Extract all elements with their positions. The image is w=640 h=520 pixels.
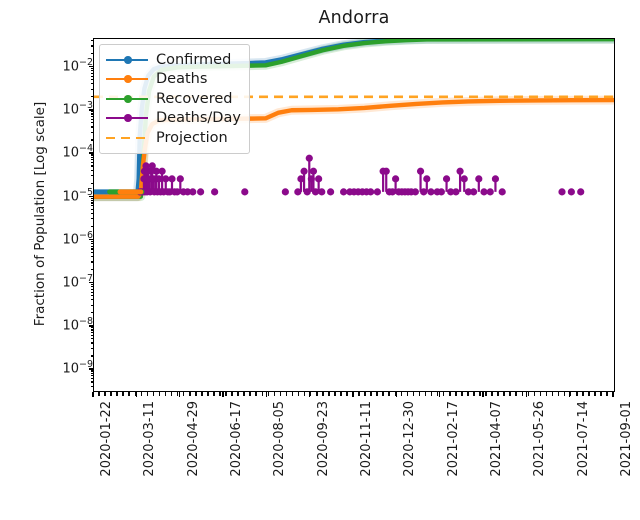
x-minor-tick	[522, 392, 524, 396]
x-tick-label: 2020-08-05	[272, 401, 287, 477]
x-minor-tick	[122, 392, 124, 396]
x-tick-mark	[482, 392, 483, 397]
x-minor-tick	[401, 392, 403, 396]
scatter-point	[197, 188, 204, 195]
x-minor-tick	[600, 392, 602, 396]
x-minor-tick	[286, 392, 288, 396]
legend-swatch-icon	[106, 53, 148, 67]
x-tick-label: 2020-04-29	[186, 401, 201, 477]
x-minor-tick	[225, 392, 227, 396]
x-tick-label: 2021-05-26	[532, 401, 547, 477]
y-tick-label: 10−9	[45, 360, 93, 375]
scatter-point	[241, 188, 248, 195]
x-minor-tick	[473, 392, 475, 396]
scatter-point	[383, 168, 390, 175]
scatter-point	[159, 168, 166, 175]
scatter-point	[177, 175, 184, 182]
x-tick-label: 2021-09-01	[619, 401, 634, 477]
x-minor-tick	[322, 392, 324, 396]
scatter-point	[306, 155, 313, 162]
x-tick-label: 2021-04-07	[489, 401, 504, 477]
x-tick-mark	[309, 392, 310, 397]
x-minor-tick	[558, 392, 560, 396]
x-minor-tick	[503, 392, 505, 396]
x-minor-tick	[534, 392, 536, 396]
y-tick-label: 10−6	[45, 231, 93, 246]
chart-title: Andorra	[93, 8, 615, 28]
legend-swatch-icon	[106, 111, 148, 125]
scatter-point	[487, 188, 494, 195]
x-minor-tick	[449, 392, 451, 396]
x-tick-mark	[439, 392, 440, 397]
scatter-point	[315, 175, 322, 182]
x-minor-tick	[298, 392, 300, 396]
x-minor-tick	[364, 392, 366, 396]
x-tick-mark	[612, 392, 613, 397]
x-minor-tick	[540, 392, 542, 396]
x-tick-mark	[396, 392, 397, 397]
x-minor-tick	[479, 392, 481, 396]
scatter-point	[480, 188, 487, 195]
legend-swatch-icon	[106, 131, 148, 145]
x-tick-label: 2020-03-11	[142, 401, 157, 477]
legend-label: Deaths	[156, 72, 207, 87]
x-minor-tick	[165, 392, 167, 396]
x-minor-tick	[213, 392, 215, 396]
x-minor-tick	[419, 392, 421, 396]
x-minor-tick	[110, 392, 112, 396]
chart-legend: ConfirmedDeathsRecoveredDeaths/DayProjec…	[99, 44, 250, 154]
scatter-point	[452, 188, 459, 195]
x-minor-tick	[606, 392, 608, 396]
matplotlib-figure: Andorra Fraction of Population [Log scal…	[0, 0, 640, 520]
legend-item-confirmed: Confirmed	[106, 50, 241, 70]
legend-label: Projection	[156, 131, 228, 146]
x-minor-tick	[455, 392, 457, 396]
x-minor-tick	[370, 392, 372, 396]
x-minor-tick	[195, 392, 197, 396]
x-minor-tick	[528, 392, 530, 396]
y-tick-label: 10−3	[45, 101, 93, 116]
x-tick-label: 2020-12-30	[402, 401, 417, 477]
x-tick-mark	[92, 392, 93, 397]
x-minor-tick	[388, 392, 390, 396]
x-minor-tick	[407, 392, 409, 396]
x-minor-tick	[485, 392, 487, 396]
x-minor-tick	[231, 392, 233, 396]
x-minor-tick	[262, 392, 264, 396]
x-minor-tick	[443, 392, 445, 396]
x-minor-tick	[552, 392, 554, 396]
scatter-point	[282, 188, 289, 195]
scatter-point	[438, 188, 445, 195]
x-tick-label: 2020-11-11	[359, 401, 374, 477]
x-minor-tick	[594, 392, 596, 396]
x-minor-tick	[280, 392, 282, 396]
x-minor-tick	[346, 392, 348, 396]
x-minor-tick	[183, 392, 185, 396]
scatter-point	[340, 188, 347, 195]
y-tick-label: 10−8	[45, 317, 93, 332]
scatter-point	[558, 188, 565, 195]
legend-item-deaths-day: Deaths/Day	[106, 109, 241, 129]
scatter-point	[392, 175, 399, 182]
scatter-point	[374, 188, 381, 195]
y-tick-label: 10−7	[45, 274, 93, 289]
deaths-per-day-scatter	[136, 155, 584, 196]
x-minor-tick	[546, 392, 548, 396]
x-minor-tick	[147, 392, 149, 396]
scatter-point	[499, 188, 506, 195]
scatter-point	[423, 175, 430, 182]
x-tick-mark	[526, 392, 527, 397]
scatter-point	[492, 175, 499, 182]
x-minor-tick	[461, 392, 463, 396]
x-minor-tick	[249, 392, 251, 396]
x-minor-tick	[316, 392, 318, 396]
x-minor-tick	[207, 392, 209, 396]
legend-swatch-icon	[106, 92, 148, 106]
x-minor-tick	[576, 392, 578, 396]
x-tick-mark	[266, 392, 267, 397]
y-axis-ticks: 10−210−310−410−510−610−710−810−9	[0, 0, 93, 520]
x-minor-tick	[340, 392, 342, 396]
x-minor-tick	[334, 392, 336, 396]
x-tick-label: 2021-02-17	[446, 401, 461, 477]
scatter-point	[417, 168, 424, 175]
x-minor-tick	[255, 392, 257, 396]
x-minor-tick	[515, 392, 517, 396]
legend-label: Deaths/Day	[156, 111, 241, 126]
scatter-point	[300, 168, 307, 175]
x-minor-tick	[237, 392, 239, 396]
x-minor-tick	[328, 392, 330, 396]
scatter-point	[568, 188, 575, 195]
x-minor-tick	[467, 392, 469, 396]
legend-label: Confirmed	[156, 53, 231, 68]
scatter-point	[310, 168, 317, 175]
scatter-point	[470, 188, 477, 195]
x-minor-tick	[128, 392, 130, 396]
x-minor-tick	[431, 392, 433, 396]
scatter-point	[367, 188, 374, 195]
x-tick-mark	[179, 392, 180, 397]
x-minor-tick	[171, 392, 173, 396]
scatter-point	[456, 168, 463, 175]
scatter-point	[189, 188, 196, 195]
x-tick-label: 2021-07-14	[576, 401, 591, 477]
scatter-point	[427, 188, 434, 195]
legend-item-deaths: Deaths	[106, 70, 241, 90]
x-minor-tick	[582, 392, 584, 396]
x-minor-tick	[497, 392, 499, 396]
scatter-point	[475, 175, 482, 182]
x-minor-tick	[201, 392, 203, 396]
scatter-point	[162, 175, 169, 182]
x-minor-tick	[425, 392, 427, 396]
x-minor-tick	[382, 392, 384, 396]
x-minor-tick	[189, 392, 191, 396]
x-tick-label: 2020-09-23	[316, 401, 331, 477]
y-tick-label: 10−5	[45, 188, 93, 203]
scatter-point	[327, 188, 334, 195]
x-minor-tick	[491, 392, 493, 396]
x-minor-tick	[159, 392, 161, 396]
scatter-point	[412, 188, 419, 195]
x-minor-tick	[413, 392, 415, 396]
legend-swatch-icon	[106, 72, 148, 86]
legend-item-recovered: Recovered	[106, 89, 241, 109]
y-tick-label: 10−4	[45, 144, 93, 159]
x-minor-tick	[588, 392, 590, 396]
x-minor-tick	[98, 392, 100, 396]
legend-item-projection: Projection	[106, 128, 241, 148]
x-minor-tick	[358, 392, 360, 396]
scatter-point	[168, 175, 175, 182]
scatter-point	[461, 175, 468, 182]
x-tick-mark	[136, 392, 137, 397]
x-minor-tick	[243, 392, 245, 396]
x-minor-tick	[219, 392, 221, 396]
scatter-point	[577, 188, 584, 195]
x-minor-tick	[268, 392, 270, 396]
x-minor-tick	[153, 392, 155, 396]
x-minor-tick	[116, 392, 118, 396]
x-minor-tick	[292, 392, 294, 396]
x-tick-label: 2020-01-22	[99, 401, 114, 477]
x-minor-tick	[274, 392, 276, 396]
x-tick-label: 2020-06-17	[229, 401, 244, 477]
x-tick-mark	[222, 392, 223, 397]
x-minor-tick	[564, 392, 566, 396]
scatter-point	[211, 188, 218, 195]
x-minor-tick	[304, 392, 306, 396]
x-minor-tick	[104, 392, 106, 396]
scatter-point	[443, 175, 450, 182]
y-tick-label: 10−2	[45, 58, 93, 73]
x-minor-tick	[141, 392, 143, 396]
x-minor-tick	[376, 392, 378, 396]
x-tick-mark	[569, 392, 570, 397]
legend-label: Recovered	[156, 92, 232, 107]
scatter-point	[318, 188, 325, 195]
x-tick-mark	[352, 392, 353, 397]
x-minor-tick	[509, 392, 511, 396]
